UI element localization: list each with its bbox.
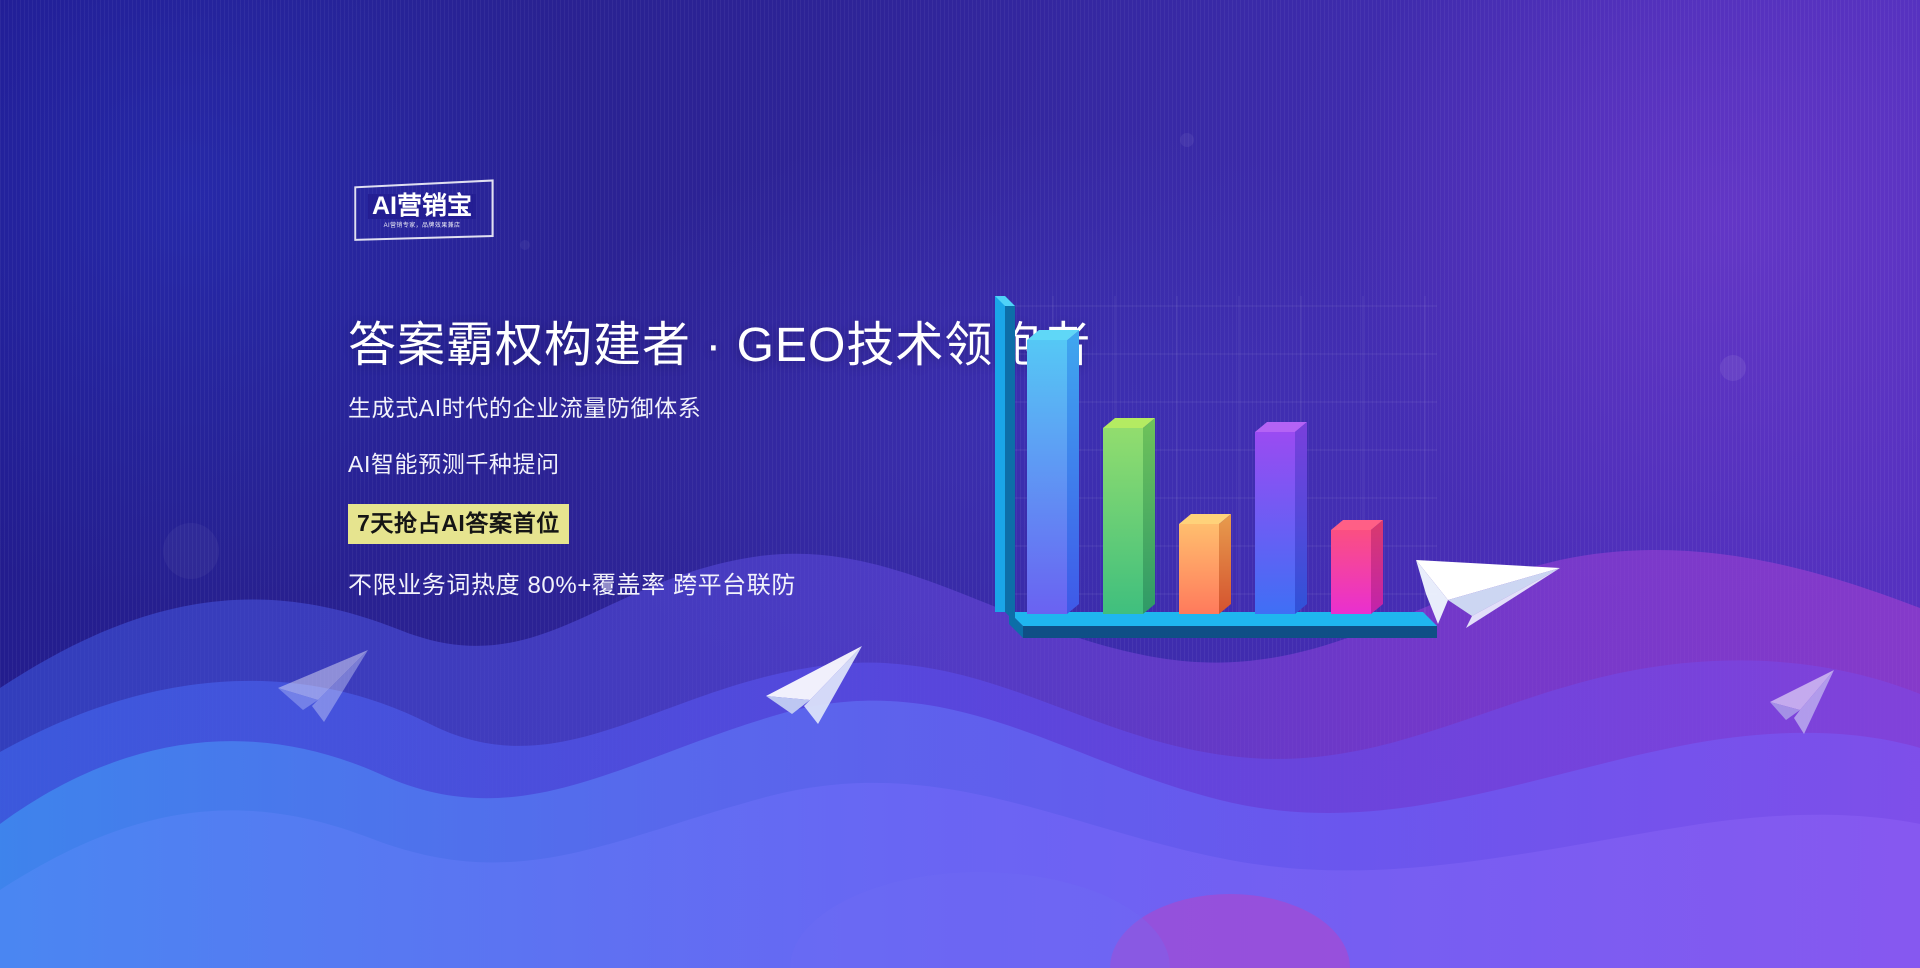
paper-plane-icon — [762, 638, 872, 730]
hero-subtitle-3: 不限业务词热度 80%+覆盖率 跨平台联防 — [348, 574, 1068, 598]
hero-subtitle-2: AI智能预测千种提问 — [348, 453, 1068, 476]
decor-circle — [1180, 133, 1194, 147]
chart-base — [1009, 612, 1437, 638]
logo-tagline: AI营销专家，品牌效果兼店 — [384, 223, 461, 229]
chart-bar — [1027, 330, 1079, 614]
hero-subtitle-1: 生成式AI时代的企业流量防御体系 — [348, 397, 1068, 420]
page-title: 答案霸权构建者 · GEO技术领跑者 — [348, 318, 1068, 375]
hero-copy: 答案霸权构建者 · GEO技术领跑者 生成式AI时代的企业流量防御体系 AI智能… — [348, 318, 1068, 598]
chart-axis — [995, 296, 1015, 622]
chart-bar — [1179, 514, 1231, 614]
chart-bar — [1331, 520, 1383, 614]
hero-banner: AI营销宝 AI营销专家，品牌效果兼店 答案霸权构建者 · GEO技术领跑者 生… — [0, 0, 1920, 968]
chart-bar — [1103, 418, 1155, 614]
hero-highlight-row: 7天抢占AI答案首位 — [348, 504, 1068, 544]
highlight-badge: 7天抢占AI答案首位 — [348, 504, 569, 544]
paper-plane-icon — [272, 636, 382, 728]
brand-logo[interactable]: AI营销宝 AI营销专家，品牌效果兼店 — [352, 183, 492, 239]
decor-circle — [1720, 355, 1746, 381]
decor-circle — [520, 240, 530, 250]
wave-decoration — [0, 538, 1920, 968]
bar-chart — [975, 296, 1445, 668]
paper-plane-icon — [1764, 664, 1844, 740]
chart-bar — [1255, 422, 1307, 614]
logo-wordmark: AI营销宝 — [368, 194, 476, 219]
